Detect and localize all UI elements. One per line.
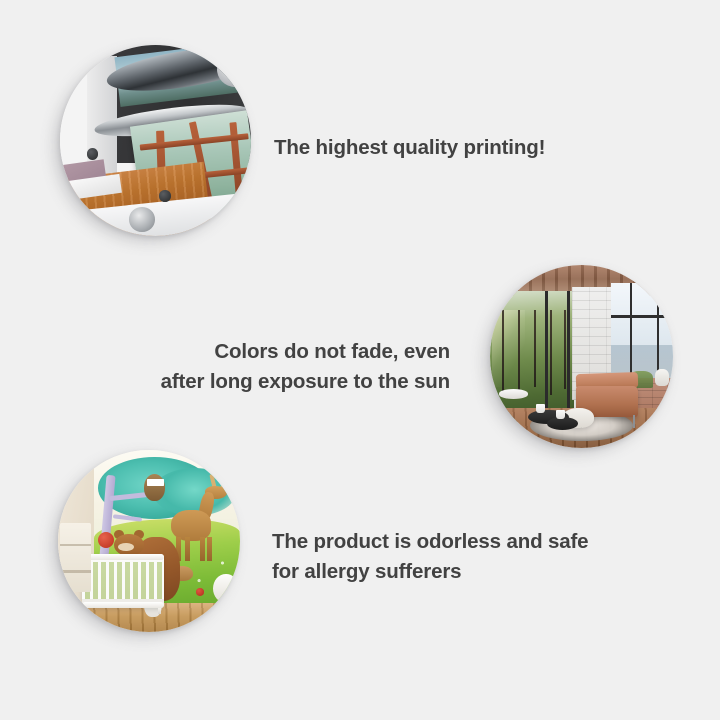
printing-machine-photo: [60, 45, 251, 236]
nursery-shelf: [60, 523, 91, 592]
deer-leg: [200, 537, 205, 561]
feature-image-odorless-safe: [58, 450, 240, 632]
mural-tree-trunk: [550, 310, 552, 394]
mural-tree-trunk: [502, 310, 504, 392]
owl-eyes: [147, 479, 163, 486]
mural-tree-trunk: [534, 310, 536, 386]
mural-goose: [213, 574, 238, 603]
mural-tree-trunk: [518, 310, 520, 397]
round-side-table: [547, 417, 578, 430]
loft-interior-forest-mural-photo: [490, 265, 673, 448]
shelf-board: [60, 570, 91, 573]
window-mullion: [611, 315, 673, 318]
promo-banner: The highest quality printing! Colors do …: [0, 0, 720, 720]
mural-deer-body: [171, 510, 211, 541]
white-side-table: [499, 389, 528, 398]
crib-bars: [82, 562, 164, 598]
machine-knob: [87, 148, 98, 159]
crib-top-rail: [82, 554, 164, 561]
crib-leg: [158, 608, 161, 615]
machine-knob: [159, 190, 170, 201]
mural-owl: [144, 474, 166, 501]
sun-rays: [492, 310, 526, 386]
feature-caption-printing-quality: The highest quality printing!: [274, 133, 545, 163]
coffee-cup: [556, 410, 565, 419]
mural-tree-trunk: [564, 310, 566, 389]
deer-leg: [207, 537, 212, 561]
crib-leg: [84, 608, 87, 615]
forest-wall-mural: [490, 291, 574, 423]
feature-caption-odorless-safe: The product is odorless and safe for all…: [272, 527, 588, 586]
nursery-woodland-mural-photo: [58, 450, 240, 632]
coffee-cup: [536, 404, 545, 413]
feature-image-color-fastness: [490, 265, 673, 448]
sofa-leg: [633, 415, 636, 428]
crib-bottom-rail: [82, 602, 164, 609]
feature-caption-color-fastness: Colors do not fade, even after long expo…: [150, 337, 450, 396]
mural-divider: [545, 291, 548, 426]
vase: [655, 369, 670, 385]
mural-divider: [567, 291, 570, 426]
white-crib: [82, 554, 164, 609]
feature-image-printing-quality: [60, 45, 251, 236]
deer-leg: [185, 537, 190, 561]
shelf-board: [60, 544, 91, 547]
mural-berry: [196, 588, 203, 595]
